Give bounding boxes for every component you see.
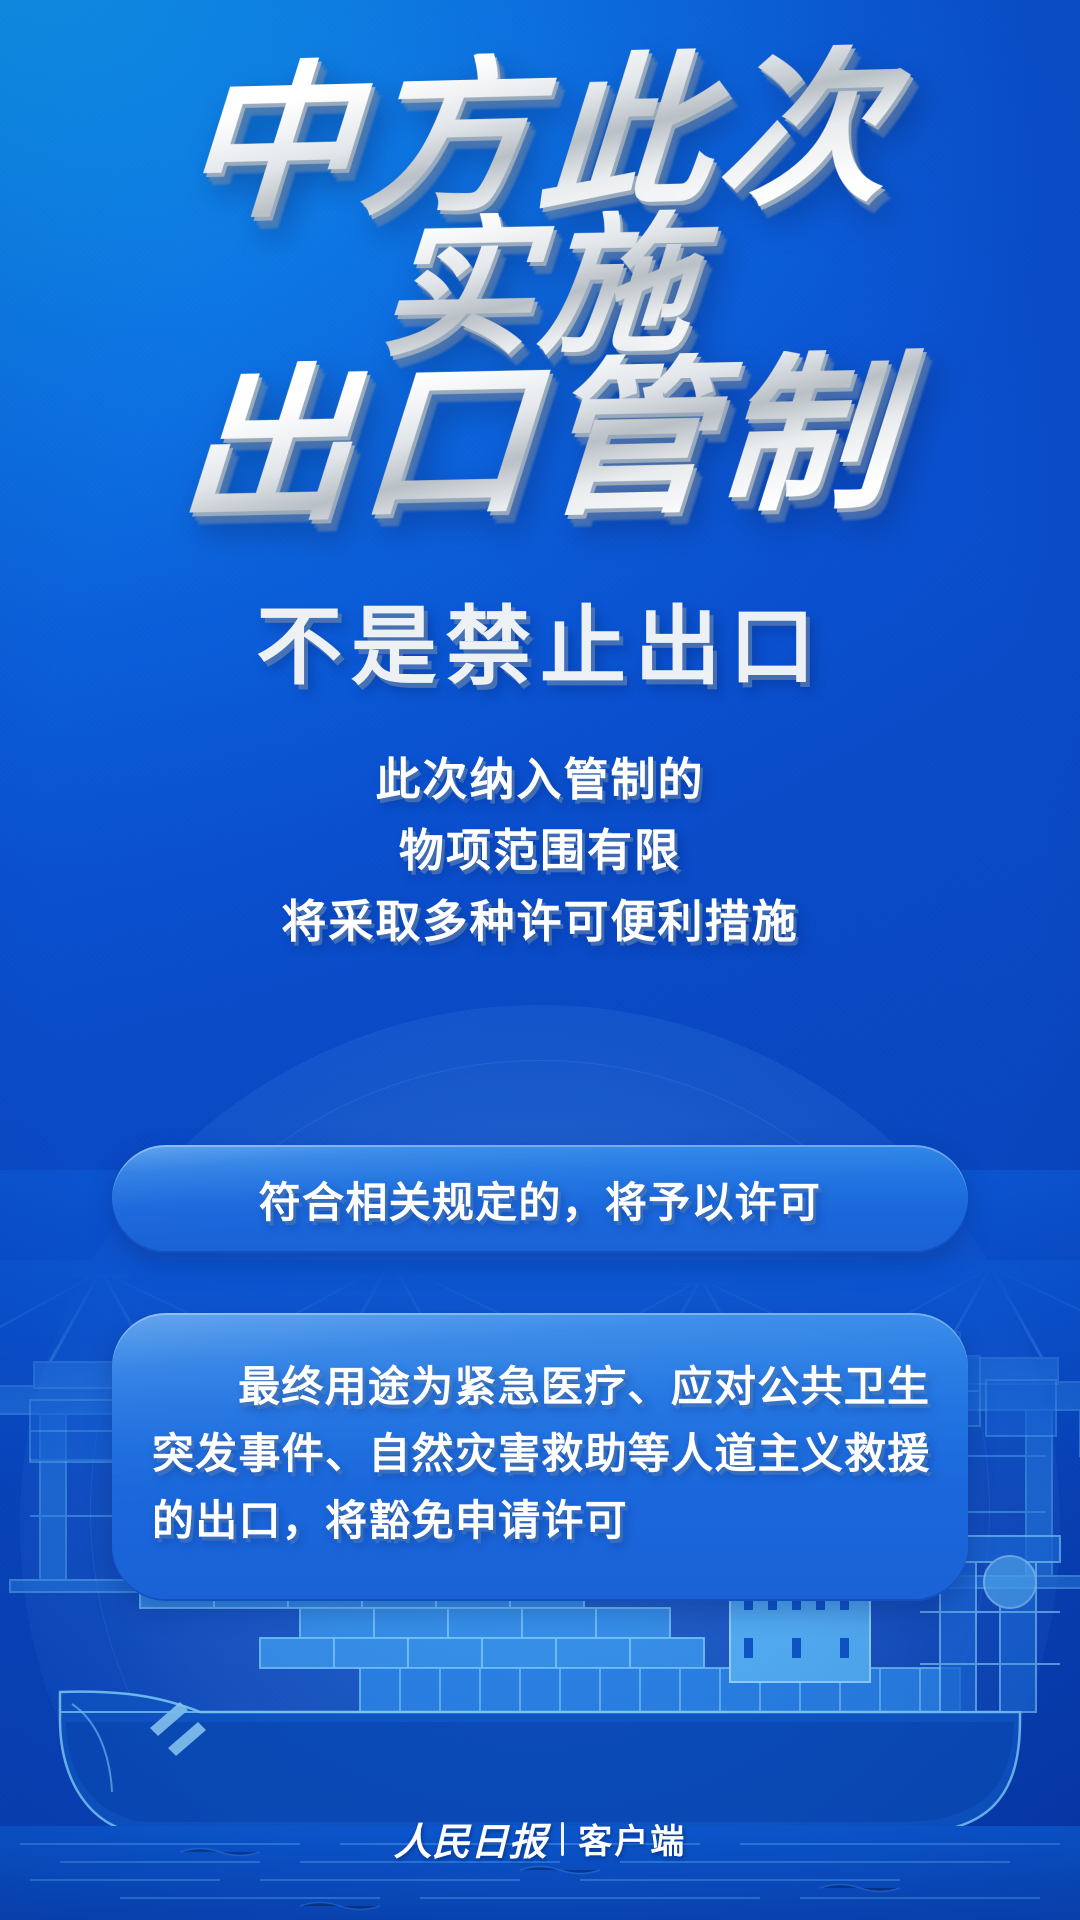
policy-card-license: 符合相关规定的，将予以许可 <box>112 1145 968 1253</box>
policy-card-list: 符合相关规定的，将予以许可 最终用途为紧急医疗、应对公共卫生 突发事件、自然灾害… <box>112 1145 968 1601</box>
lead-paragraph: 此次纳入管制的 物项范围有限 将采取多种许可便利措施 <box>0 744 1080 957</box>
policy-card-exemption: 最终用途为紧急医疗、应对公共卫生 突发事件、自然灾害救助等人道主义救援 的出口，… <box>112 1313 968 1601</box>
policy-card-exemption-line-2: 突发事件、自然灾害救助等人道主义救援 <box>152 1420 928 1487</box>
brand-app-label: 客户端 <box>578 1814 686 1863</box>
policy-card-exemption-line-3: 的出口，将豁免申请许可 <box>152 1487 928 1554</box>
peoples-daily-logo: 人民日报 <box>394 1811 548 1866</box>
title-line-3: 出口管制 <box>0 345 1080 540</box>
lead-line-2: 物项范围有限 <box>0 815 1080 886</box>
lead-line-1: 此次纳入管制的 <box>0 744 1080 815</box>
lead-line-3: 将采取多种许可便利措施 <box>0 886 1080 957</box>
policy-card-license-text: 符合相关规定的，将予以许可 <box>259 1169 821 1230</box>
poster-title: 中方此次 实施 出口管制 <box>0 52 1080 528</box>
brand-divider <box>561 1822 564 1856</box>
policy-card-exemption-line-1: 最终用途为紧急医疗、应对公共卫生 <box>152 1353 928 1420</box>
poster-canvas: 中方此次 实施 出口管制 不是禁止出口 此次纳入管制的 物项范围有限 将采取多种… <box>0 0 1080 1920</box>
footer-brand: 人民日报 客户端 <box>0 1811 1080 1866</box>
poster-subheadline: 不是禁止出口 <box>0 604 1080 690</box>
